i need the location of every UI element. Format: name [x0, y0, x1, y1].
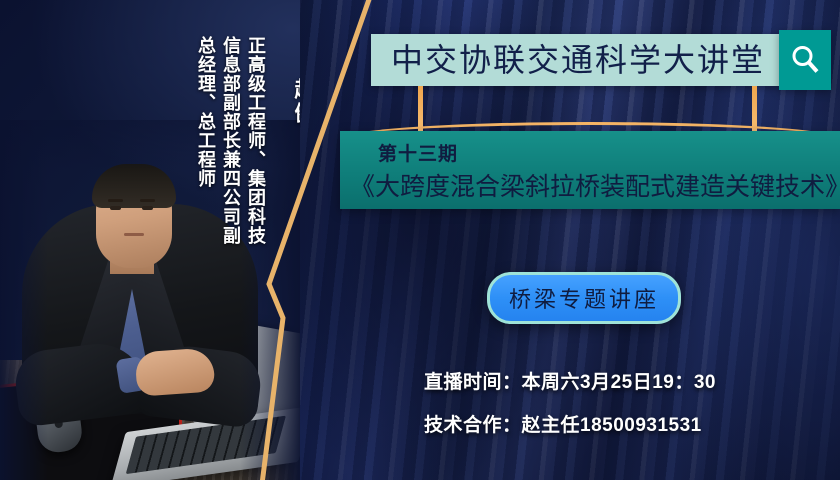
page-title: 中交协联交通科学大讲堂 — [371, 44, 765, 76]
clasped-hands — [135, 347, 216, 396]
eyebrow-left — [108, 199, 123, 202]
search-icon — [790, 44, 820, 76]
lecture-title: 《大跨度混合梁斜拉桥装配式建造关键技术》 — [350, 167, 840, 203]
eyebrow-right — [140, 199, 155, 202]
presenter-credential-line-1: 正高级工程师、集团科技 — [243, 36, 269, 245]
search-button[interactable] — [779, 30, 831, 90]
left-presenter-panel: 赵健 正高级工程师、集团科技 信息部副部长兼四公司副 总经理、总工程师 — [0, 0, 340, 480]
livestream-poster: 赵健 正高级工程师、集团科技 信息部副部长兼四公司副 总经理、总工程师 中交协联… — [0, 0, 840, 480]
subtitle-band: 第十三期 《大跨度混合梁斜拉桥装配式建造关键技术》 — [340, 131, 840, 209]
presenter-hair — [92, 164, 176, 208]
mouth — [124, 233, 144, 236]
connector-bar-left — [418, 86, 423, 132]
topic-button[interactable]: 桥梁专题讲座 — [487, 272, 681, 324]
topic-button-label: 桥梁专题讲座 — [509, 282, 659, 314]
eye-left — [110, 206, 121, 210]
contact-info: 技术合作：赵主任18500931531 — [424, 410, 702, 437]
presenter-credential-line-2: 信息部副部长兼四公司副 — [218, 36, 244, 245]
broadcast-time: 直播时间：本周六3月25日19：30 — [424, 367, 716, 394]
connector-bar-right — [752, 86, 757, 132]
episode-number: 第十三期 — [378, 139, 458, 166]
presenter-credential-line-3: 总经理、总工程师 — [193, 36, 219, 188]
eye-right — [142, 206, 153, 210]
title-banner: 中交协联交通科学大讲堂 — [371, 34, 779, 86]
